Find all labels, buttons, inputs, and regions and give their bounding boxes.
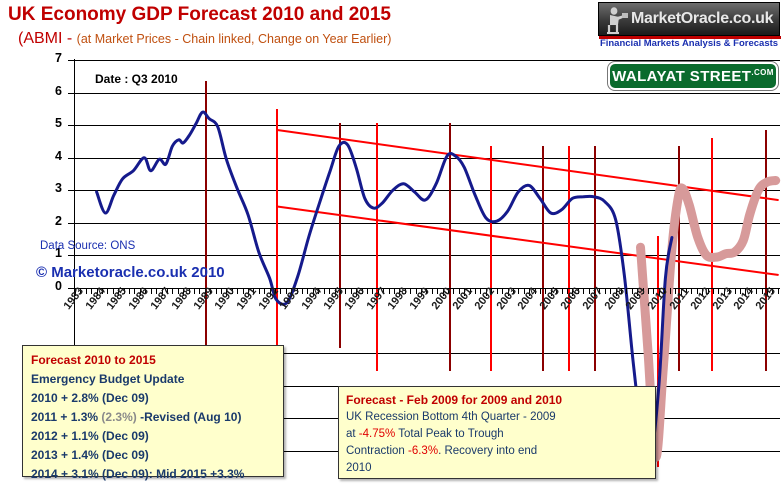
date-annotation: Date : Q3 2010 xyxy=(95,72,178,86)
y-axis-label: 3 xyxy=(22,181,62,195)
person-at-desk-icon xyxy=(603,5,631,35)
y-axis-label: 7 xyxy=(22,51,62,65)
x-axis-tick xyxy=(583,288,584,294)
chart-subtitle: (ABMI - (at Market Prices - Chain linked… xyxy=(18,30,391,48)
y-axis-tick xyxy=(68,158,75,159)
gridline xyxy=(75,60,780,61)
y-axis-tick xyxy=(68,223,75,224)
forecast-line-2014: 2014 + 3.1% (Dec 09): Mid 2015 +3.3% xyxy=(31,465,283,484)
data-source-label: Data Source: ONS xyxy=(40,240,135,252)
y-axis-label: 2 xyxy=(22,214,62,228)
x-axis-tick xyxy=(605,288,606,294)
forecast-2011-previous: (2.3%) xyxy=(101,410,136,424)
forecast-line-2013: 2013 + 1.4% (Dec 09) xyxy=(31,446,283,465)
vertical-marker-1997 xyxy=(376,123,378,370)
x-axis-tick xyxy=(237,288,238,294)
x-axis-tick xyxy=(129,288,130,294)
forecast-2011-suffix: -Revised (Aug 10) xyxy=(137,410,242,424)
vertical-marker-2015 xyxy=(765,130,767,371)
y-axis-label: 0 xyxy=(22,279,62,293)
vertical-marker-2006 xyxy=(568,146,570,371)
forecast-box-title: Forecast 2010 to 2015 xyxy=(31,351,283,370)
x-axis-tick xyxy=(432,288,433,294)
feb-line2-pre: at xyxy=(346,428,359,440)
x-axis-tick xyxy=(475,288,476,294)
forecast-box-subtitle: Emergency Budget Update xyxy=(31,370,283,389)
feb-box-line-2: at -4.75% Total Peak to Trough xyxy=(346,426,655,443)
chart-page: UK Economy GDP Forecast 2010 and 2015 (A… xyxy=(0,0,783,483)
x-axis-tick xyxy=(778,288,779,294)
x-axis-tick xyxy=(648,288,649,294)
forecast-note-box: Forecast 2010 to 2015 Emergency Budget U… xyxy=(22,345,284,477)
abmi-label: (ABMI - xyxy=(18,30,72,47)
vertical-marker-2002 xyxy=(490,146,492,371)
copyright-label: © Marketoracle.co.uk 2010 xyxy=(36,264,225,281)
page-title: UK Economy GDP Forecast 2010 and 2015 xyxy=(8,4,391,26)
vertical-marker-2000 xyxy=(449,123,451,370)
forecast-2011-prefix: 2011 + 1.3% xyxy=(31,410,101,424)
x-axis-tick xyxy=(259,288,260,294)
feb-contraction-value: -6.3% xyxy=(408,445,438,457)
subtitle-text: (at Market Prices - Chain linked, Change… xyxy=(77,32,392,46)
vertical-marker-2005 xyxy=(542,146,544,371)
vertical-marker-1995 xyxy=(339,123,341,348)
forecast-line-2012: 2012 + 1.1% (Dec 09) xyxy=(31,427,283,446)
feb-recession-bottom-value: -4.75% xyxy=(359,428,395,440)
x-axis-tick xyxy=(86,288,87,294)
feb-line2-post: Total Peak to Trough xyxy=(395,428,503,440)
y-axis-tick xyxy=(68,60,75,61)
feb-box-line-3: Contraction -6.3%. Recovery into end xyxy=(346,443,655,460)
vertical-marker-2011 xyxy=(678,146,680,371)
feb-line3-pre: Contraction xyxy=(346,445,408,457)
feb-box-line-4: 2010 xyxy=(346,460,655,477)
vertical-marker-2010 xyxy=(657,236,659,467)
vertical-marker-1989 xyxy=(205,81,207,348)
feb-box-title: Forecast - Feb 2009 for 2009 and 2010 xyxy=(346,392,655,409)
y-axis-tick xyxy=(68,190,75,191)
y-axis-label: 5 xyxy=(22,116,62,130)
x-axis-tick xyxy=(410,288,411,294)
marketoracle-tagline: Financial Markets Analysis & Forecasts xyxy=(598,38,780,49)
vertical-marker-2012 xyxy=(711,138,713,371)
gridline xyxy=(75,255,780,256)
gridline xyxy=(75,125,780,126)
feb-box-line-1: UK Recession Bottom 4th Quarter - 2009 xyxy=(346,409,655,426)
gridline xyxy=(75,158,780,159)
gridline xyxy=(75,93,780,94)
vertical-marker-1992 xyxy=(276,109,278,348)
gridline xyxy=(75,190,780,191)
forecast-line-2010: 2010 + 2.8% (Dec 09) xyxy=(31,389,283,408)
feb-forecast-note-box: Forecast - Feb 2009 for 2009 and 2010 UK… xyxy=(338,386,656,479)
vertical-marker-2007 xyxy=(594,146,596,371)
x-axis-tick xyxy=(756,288,757,294)
marketoracle-logo-text: MarketOracle.co.uk xyxy=(631,10,773,28)
x-axis-tick xyxy=(713,288,714,294)
x-axis-tick xyxy=(302,288,303,294)
y-axis-tick xyxy=(68,255,75,256)
forecast-line-2011: 2011 + 1.3% (2.3%) -Revised (Aug 10) xyxy=(31,408,283,427)
feb-line3-post: . Recovery into end xyxy=(438,445,537,457)
y-axis-label: 4 xyxy=(22,149,62,163)
marketoracle-logo[interactable]: MarketOracle.co.uk xyxy=(598,2,780,36)
x-axis-tick xyxy=(194,288,195,294)
y-axis-tick xyxy=(68,125,75,126)
x-axis-tick xyxy=(540,288,541,294)
x-axis-tick xyxy=(367,288,368,294)
y-axis-tick xyxy=(68,93,75,94)
gridline xyxy=(75,223,780,224)
y-axis-label: 6 xyxy=(22,84,62,98)
